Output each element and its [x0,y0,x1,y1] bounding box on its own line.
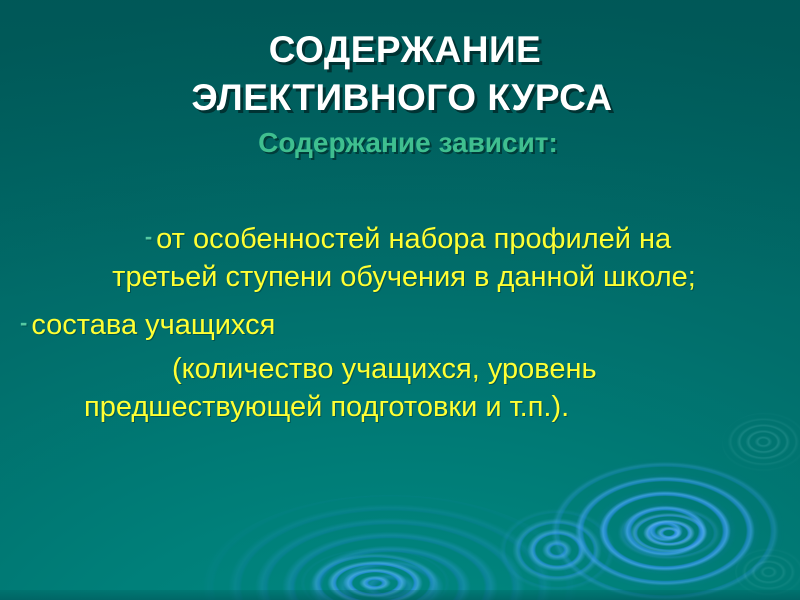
slide-content: СОДЕРЖАНИЕ ЭЛЕКТИВНОГО КУРСА Содержание … [0,0,800,600]
body-line-5: предшествующей подготовки и т.п.). [0,388,800,426]
bullet-dash-icon: - [20,304,27,342]
body-line-4: (количество учащихся, уровень [0,350,800,388]
bullet-dash-icon: - [145,218,152,256]
body-line-4-text: (количество учащихся, уровень [172,353,597,385]
slide-subtitle: Содержание зависит: [0,126,800,160]
body-line-3: -состава учащихся [0,304,800,344]
body-line-2: третьей ступени обучения в данной школе; [0,258,800,296]
title-line-2: ЭЛЕКТИВНОГО КУРСА [0,74,800,122]
slide-title: СОДЕРЖАНИЕ ЭЛЕКТИВНОГО КУРСА [0,26,800,122]
body-line-2-text: третьей ступени обучения в данной школе; [112,261,696,293]
body-line-1: -от особенностей набора профилей на [0,218,800,258]
title-line-1: СОДЕРЖАНИЕ [0,26,800,74]
presentation-slide: СОДЕРЖАНИЕ ЭЛЕКТИВНОГО КУРСА Содержание … [0,0,800,600]
body-line-3-text: состава учащихся [31,309,275,341]
body-line-1-text: от особенностей набора профилей на [156,223,671,255]
body-line-5-text: предшествующей подготовки и т.п.). [84,391,569,423]
slide-body: -от особенностей набора профилей на трет… [0,218,800,426]
